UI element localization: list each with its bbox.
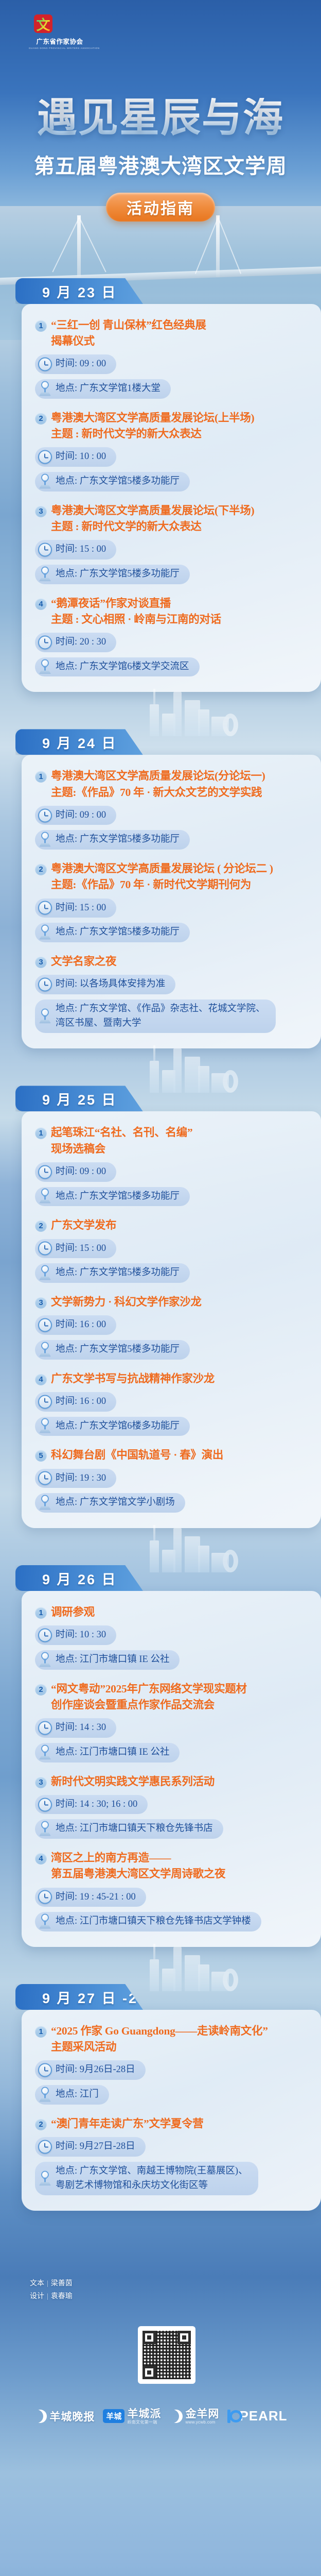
event-place-text: 地点: 广东文学馆5楼多功能厅: [56, 567, 180, 582]
event-item[interactable]: 3文学新势力 · 科幻文学作家沙龙时间: 16 : 00地点: 广东文学馆5楼多…: [35, 1294, 310, 1360]
event-title: 粤港澳大湾区文学高质量发展论坛(上半场): [51, 410, 254, 426]
event-time-pill: 时间: 20 : 30: [35, 633, 116, 652]
event-time-text: 时间: 09 : 00: [56, 357, 106, 371]
event-title: “2025 作家 Go Guangdong——走读岭南文化” 主题采风活动: [51, 2023, 268, 2055]
event-place-pill: 地点: 广东文学馆6楼多功能厅: [35, 1417, 190, 1436]
event-time-pill: 时间: 16 : 00: [35, 1315, 116, 1335]
qr-code[interactable]: [138, 2326, 195, 2384]
event-time-text: 时间: 16 : 00: [56, 1318, 106, 1332]
event-place-pill: 地点: 广东文学馆、《作品》杂志社、花城文学院、 湾区书屋、暨南大学: [35, 999, 276, 1033]
brand-jinyang: 金羊网 www.ycwb.com: [169, 2408, 219, 2425]
date-tab: 9 月 23 日: [15, 278, 143, 304]
bridge-pylon: [216, 215, 220, 277]
event-time-pill: 时间: 以各场具体安排为准: [35, 975, 175, 994]
event-title: 粤港澳大湾区文学高质量发展论坛(分论坛一): [51, 768, 265, 784]
event-item[interactable]: 1粤港澳大湾区文学高质量发展论坛(分论坛一)主题:《作品》70 年 · 新大众文…: [35, 768, 310, 850]
map-pin-icon: [38, 832, 52, 848]
clock-icon: [38, 1721, 52, 1735]
clock-icon: [38, 2063, 52, 2077]
event-item[interactable]: 3新时代文明实践文学惠民系列活动时间: 14 : 30; 16 : 00地点: …: [35, 1774, 310, 1839]
qr-finder-icon: [177, 2331, 191, 2344]
event-header: 4“鹅潭夜话”作家对谈直播: [35, 596, 310, 612]
pearl-p-icon: [227, 2410, 238, 2423]
event-number-badge: 4: [35, 598, 47, 610]
event-time-text: 时间: 15 : 00: [56, 1242, 106, 1256]
date-label: 9 月 23 日: [42, 281, 117, 301]
event-item[interactable]: 4湾区之上的南方再造—— 第五届粤港澳大湾区文学周诗歌之夜时间: 19 : 45…: [35, 1850, 310, 1931]
event-title: 粤港澳大湾区文学高质量发展论坛 ( 分论坛二 ): [51, 861, 273, 877]
page-subtitle: 第五届粤港澳大湾区文学周: [0, 149, 321, 179]
org-logo-mark: 文: [34, 14, 52, 33]
event-item[interactable]: 4“鹅潭夜话”作家对谈直播主题 : 文心相照 · 岭南与江南的对话时间: 20 …: [35, 596, 310, 677]
event-place-text: 地点: 广东文学馆、南越王博物院(王墓展区)、 粤剧艺术博物馆和永庆坊文化街区等: [56, 2164, 248, 2193]
moon-icon: [33, 2410, 47, 2423]
brand-name: 金羊网: [185, 2408, 219, 2420]
event-time-pill: 时间: 10 : 30: [35, 1625, 116, 1645]
map-pin-icon: [38, 566, 52, 582]
event-number-badge: 1: [35, 771, 47, 783]
event-time-text: 时间: 9月27日-28日: [56, 2140, 135, 2154]
brand-url: www.ycwb.com: [185, 2420, 219, 2425]
event-time-text: 时间: 15 : 00: [56, 543, 106, 557]
event-header: 3文学新势力 · 科幻文学作家沙龙: [35, 1294, 310, 1310]
event-theme: 主题:《作品》70 年 · 新时代文学期刊何为: [51, 877, 310, 893]
credit-design-label: 设计: [30, 2293, 44, 2300]
event-time-text: 时间: 以各场具体安排为准: [56, 977, 165, 992]
event-title: 湾区之上的南方再造—— 第五届粤港澳大湾区文学周诗歌之夜: [51, 1850, 225, 1882]
event-header: 4广东文学书写与抗战精神作家沙龙: [35, 1371, 310, 1387]
event-title: “鹅潭夜话”作家对谈直播: [51, 596, 171, 612]
org-name-en: GUANG DONG PROVINCIAL WRITERS ASSOCIATIO…: [29, 47, 91, 49]
event-title: “澳门青年走读广东”文学夏令营: [51, 2116, 204, 2132]
event-header: 3文学名家之夜: [35, 954, 310, 970]
date-tab: 9 月 27 日 -28 日: [15, 1984, 143, 2010]
brand-name: PEARL: [239, 2408, 287, 2424]
credit-design-line: 设计|袁春瑜: [30, 2291, 73, 2303]
day-card: 1调研参观时间: 10 : 30地点: 江门市塘口镇 IE 公社2“网文粤动”2…: [22, 1591, 321, 1947]
event-place-text: 地点: 广东文学馆5楼多功能厅: [56, 925, 180, 940]
event-title: 文学名家之夜: [51, 954, 116, 970]
event-time-text: 时间: 10 : 00: [56, 450, 106, 464]
poster-root: 文 广东省作家协会 GUANG DONG PROVINCIAL WRITERS …: [0, 0, 321, 2576]
event-header: 3粤港澳大湾区文学高质量发展论坛(下半场): [35, 503, 310, 519]
map-pin-icon: [38, 659, 52, 675]
clock-icon: [38, 1242, 52, 1256]
event-time-pill: 时间: 15 : 00: [35, 899, 116, 918]
event-time-pill: 时间: 15 : 00: [35, 1239, 116, 1259]
clock-icon: [38, 808, 52, 822]
day-card: 1粤港澳大湾区文学高质量发展论坛(分论坛一)主题:《作品》70 年 · 新大众文…: [22, 755, 321, 1048]
event-time-text: 时间: 14 : 30: [56, 1721, 106, 1735]
hero-section: 遇见星辰与海 第五届粤港澳大湾区文学周 活动指南: [0, 98, 321, 222]
qr-finder-icon: [142, 2366, 156, 2379]
org-logo: 文 广东省作家协会 GUANG DONG PROVINCIAL WRITERS …: [29, 14, 91, 49]
event-time-text: 时间: 09 : 00: [56, 808, 106, 823]
map-pin-icon: [38, 1418, 52, 1434]
event-title: 起笔珠江“名社、名刊、名编” 现场选稿会: [51, 1125, 192, 1157]
brand-ycpai: 羊城 羊城派 岭南文化第一端: [103, 2408, 161, 2425]
brand-name: 羊城派: [127, 2408, 161, 2420]
event-place-pill: 地点: 广东文学馆6楼文学交流区: [35, 657, 200, 677]
event-time-pill: 时间: 16 : 00: [35, 1392, 116, 1412]
event-theme: 主题 : 新时代文学的新大众表达: [51, 519, 310, 535]
map-pin-icon: [38, 381, 52, 397]
event-place-pill: 地点: 广东文学馆文学小剧场: [35, 1493, 185, 1513]
activity-guide-button[interactable]: 活动指南: [106, 193, 215, 222]
event-place-text: 地点: 广东文学馆5楼多功能厅: [56, 474, 180, 489]
date-tab: 9 月 25 日: [15, 1086, 143, 1111]
event-place-text: 地点: 广东文学馆6楼文学交流区: [56, 660, 189, 674]
map-pin-icon: [38, 1265, 52, 1281]
map-pin-icon: [38, 2171, 52, 2187]
event-number-badge: 3: [35, 956, 47, 968]
event-header: 1“2025 作家 Go Guangdong——走读岭南文化” 主题采风活动: [35, 2023, 310, 2055]
event-number-badge: 3: [35, 1297, 47, 1309]
brand-badge: 羊城: [103, 2409, 124, 2423]
day-section: 9 月 25 日1起笔珠江“名社、名刊、名编” 现场选稿会时间: 09 : 00…: [0, 1086, 321, 1528]
clock-icon: [38, 901, 52, 915]
clock-icon: [38, 1890, 52, 1904]
event-time-text: 时间: 14 : 30; 16 : 00: [56, 1798, 137, 1812]
map-pin-icon: [38, 473, 52, 489]
event-header: 1调研参观: [35, 1604, 310, 1620]
event-number-badge: 2: [35, 1684, 47, 1696]
clock-icon: [38, 1165, 52, 1179]
event-number-badge: 1: [35, 320, 47, 332]
event-item[interactable]: 2“网文粤动”2025年广东网络文学现实题材 创作座谈会暨重点作家作品交流会时间…: [35, 1681, 310, 1762]
event-place-text: 地点: 江门市塘口镇 IE 公社: [56, 1745, 169, 1760]
event-place-text: 地点: 广东文学馆5楼多功能厅: [56, 1266, 180, 1280]
event-place-text: 地点: 广东文学馆5楼多功能厅: [56, 1343, 180, 1357]
event-place-pill: 地点: 广东文学馆5楼多功能厅: [35, 565, 190, 584]
event-item[interactable]: 2“澳门青年走读广东”文学夏令营时间: 9月27日-28日地点: 广东文学馆、南…: [35, 2116, 310, 2195]
event-place-pill: 地点: 广东文学馆5楼多功能厅: [35, 1340, 190, 1360]
brand-pearl: PEARL: [227, 2408, 287, 2424]
map-pin-icon: [38, 925, 52, 941]
org-name-cn: 广东省作家协会: [29, 36, 91, 46]
event-title: “网文粤动”2025年广东网络文学现实题材 创作座谈会暨重点作家作品交流会: [51, 1681, 247, 1713]
event-place-pill: 地点: 江门市塘口镇天下粮仓先锋书店: [35, 1819, 223, 1839]
event-number-badge: 4: [35, 1853, 47, 1865]
event-number-badge: 5: [35, 1450, 47, 1462]
event-item[interactable]: 2粤港澳大湾区文学高质量发展论坛 ( 分论坛二 )主题:《作品》70 年 · 新…: [35, 861, 310, 942]
day-section: 9 月 24 日1粤港澳大湾区文学高质量发展论坛(分论坛一)主题:《作品》70 …: [0, 729, 321, 1048]
event-place-text: 地点: 广东文学馆6楼多功能厅: [56, 1419, 180, 1434]
event-place-pill: 地点: 江门: [35, 2085, 109, 2105]
event-item[interactable]: 1起笔珠江“名社、名刊、名编” 现场选稿会时间: 09 : 00地点: 广东文学…: [35, 1125, 310, 1206]
event-place-pill: 地点: 江门市塘口镇 IE 公社: [35, 1743, 180, 1762]
event-time-pill: 时间: 14 : 30; 16 : 00: [35, 1795, 148, 1815]
event-item[interactable]: 2广东文学发布时间: 15 : 00地点: 广东文学馆5楼多功能厅: [35, 1217, 310, 1283]
event-time-pill: 时间: 19 : 30: [35, 1469, 116, 1488]
event-place-pill: 地点: 江门市塘口镇 IE 公社: [35, 1650, 180, 1670]
date-label: 9 月 25 日: [42, 1089, 117, 1109]
moon-icon: [169, 2410, 183, 2423]
credit-text-label: 文本: [30, 2280, 44, 2287]
event-place-text: 地点: 江门市塘口镇 IE 公社: [56, 1653, 169, 1667]
event-title: 调研参观: [51, 1604, 95, 1620]
event-item[interactable]: 3文学名家之夜时间: 以各场具体安排为准地点: 广东文学馆、《作品》杂志社、花城…: [35, 954, 310, 1033]
event-header: 2粤港澳大湾区文学高质量发展论坛(上半场): [35, 410, 310, 426]
map-pin-icon: [38, 1008, 52, 1024]
event-title: 新时代文明实践文学惠民系列活动: [51, 1774, 215, 1790]
map-pin-icon: [38, 1189, 52, 1205]
event-time-pill: 时间: 15 : 00: [35, 540, 116, 560]
event-header: 2“澳门青年走读广东”文学夏令营: [35, 2116, 310, 2132]
event-place-pill: 地点: 广东文学馆5楼多功能厅: [35, 1187, 190, 1207]
date-tab: 9 月 26 日: [15, 1565, 143, 1591]
day-card: 1“2025 作家 Go Guangdong——走读岭南文化” 主题采风活动时间…: [22, 2010, 321, 2211]
event-item[interactable]: 4广东文学书写与抗战精神作家沙龙时间: 16 : 00地点: 广东文学馆6楼多功…: [35, 1371, 310, 1436]
page-title: 遇见星辰与海: [0, 98, 321, 138]
map-pin-icon: [38, 2087, 52, 2103]
event-time-text: 时间: 9月26日-28日: [56, 2063, 135, 2077]
event-place-text: 地点: 广东文学馆5楼多功能厅: [56, 833, 180, 847]
event-time-pill: 时间: 10 : 00: [35, 447, 116, 467]
event-time-text: 时间: 09 : 00: [56, 1165, 106, 1179]
date-label: 9 月 27 日 -28 日: [42, 1987, 168, 2007]
date-label: 9 月 26 日: [42, 1568, 117, 1588]
map-pin-icon: [38, 1652, 52, 1668]
event-number-badge: 2: [35, 2119, 47, 2130]
event-time-pill: 时间: 09 : 00: [35, 1162, 116, 1182]
event-place-text: 地点: 江门市塘口镇天下粮仓先锋书店: [56, 1822, 213, 1836]
event-time-text: 时间: 20 : 30: [56, 635, 106, 650]
event-place-pill: 地点: 广东文学馆1楼大堂: [35, 379, 171, 399]
map-pin-icon: [38, 1342, 52, 1358]
event-item[interactable]: 1调研参观时间: 10 : 30地点: 江门市塘口镇 IE 公社: [35, 1604, 310, 1670]
map-pin-icon: [38, 1821, 52, 1837]
day-section: 9 月 27 日 -28 日1“2025 作家 Go Guangdong——走读…: [0, 1984, 321, 2211]
event-header: 1粤港澳大湾区文学高质量发展论坛(分论坛一): [35, 768, 310, 784]
clock-icon: [38, 978, 52, 992]
event-place-text: 地点: 江门市塘口镇天下粮仓先锋书店文学钟楼: [56, 1914, 251, 1929]
event-place-pill: 地点: 广东文学馆5楼多功能厅: [35, 830, 190, 850]
org-logo-glyph: 文: [34, 14, 52, 33]
event-time-pill: 时间: 9月26日-28日: [35, 2060, 146, 2080]
clock-icon: [38, 543, 52, 556]
event-time-text: 时间: 19 : 45-21 : 00: [56, 1890, 136, 1905]
event-title: “三红一创 青山保林”红色经典展 揭幕仪式: [51, 317, 206, 349]
event-header: 2“网文粤动”2025年广东网络文学现实题材 创作座谈会暨重点作家作品交流会: [35, 1681, 310, 1713]
event-place-pill: 地点: 广东文学馆5楼多功能厅: [35, 1263, 190, 1283]
map-pin-icon: [38, 1914, 52, 1930]
event-title: 科幻舞台剧《中国轨道号 · 春》演出: [51, 1447, 223, 1463]
event-title: 文学新势力 · 科幻文学作家沙龙: [51, 1294, 202, 1310]
clock-icon: [38, 1395, 52, 1409]
event-place-pill: 地点: 广东文学馆5楼多功能厅: [35, 923, 190, 942]
event-header: 5科幻舞台剧《中国轨道号 · 春》演出: [35, 1447, 310, 1463]
event-item[interactable]: 3粤港澳大湾区文学高质量发展论坛(下半场)主题 : 新时代文学的新大众表达时间:…: [35, 503, 310, 584]
clock-icon: [38, 1629, 52, 1642]
event-place-pill: 地点: 江门市塘口镇天下粮仓先锋书店文学钟楼: [35, 1912, 261, 1931]
event-place-text: 地点: 江门: [56, 2088, 99, 2102]
event-item[interactable]: 1“2025 作家 Go Guangdong——走读岭南文化” 主题采风活动时间…: [35, 2023, 310, 2105]
clock-icon: [38, 2140, 52, 2154]
event-time-text: 时间: 15 : 00: [56, 901, 106, 916]
event-place-text: 地点: 广东文学馆1楼大堂: [56, 382, 160, 396]
event-number-badge: 4: [35, 1374, 47, 1385]
event-number-badge: 2: [35, 1220, 47, 1232]
event-time-text: 时间: 16 : 00: [56, 1395, 106, 1409]
event-header: 1起笔珠江“名社、名刊、名编” 现场选稿会: [35, 1125, 310, 1157]
day-card: 1“三红一创 青山保林”红色经典展 揭幕仪式时间: 09 : 00地点: 广东文…: [22, 304, 321, 692]
day-section: 9 月 26 日1调研参观时间: 10 : 30地点: 江门市塘口镇 IE 公社…: [0, 1565, 321, 1947]
day-card: 1起笔珠江“名社、名刊、名编” 现场选稿会时间: 09 : 00地点: 广东文学…: [22, 1111, 321, 1528]
clock-icon: [38, 1471, 52, 1485]
brand-name: 羊城晚报: [49, 2409, 95, 2424]
map-pin-icon: [38, 1744, 52, 1760]
clock-icon: [38, 450, 52, 464]
event-place-text: 地点: 广东文学馆、《作品》杂志社、花城文学院、 湾区书屋、暨南大学: [56, 1002, 265, 1031]
event-title: 广东文学书写与抗战精神作家沙龙: [51, 1371, 215, 1387]
event-item[interactable]: 2粤港澳大湾区文学高质量发展论坛(上半场)主题 : 新时代文学的新大众表达时间:…: [35, 410, 310, 492]
event-number-badge: 1: [35, 2026, 47, 2038]
map-pin-icon: [38, 1495, 52, 1511]
credit-design-name: 袁春瑜: [51, 2293, 73, 2300]
event-place-text: 地点: 广东文学馆5楼多功能厅: [56, 1190, 180, 1204]
event-place-pill: 地点: 广东文学馆5楼多功能厅: [35, 472, 190, 492]
event-theme: 主题:《作品》70 年 · 新大众文艺的文学实践: [51, 785, 310, 801]
clock-icon: [38, 635, 52, 649]
event-number-badge: 3: [35, 505, 47, 517]
brand-tagline: 岭南文化第一端: [127, 2420, 161, 2425]
event-time-pill: 时间: 14 : 30: [35, 1718, 116, 1738]
credits-block: 文本|梁善茵 设计|袁春瑜: [30, 2278, 73, 2303]
credit-text-name: 梁善茵: [51, 2280, 73, 2287]
event-number-badge: 2: [35, 863, 47, 875]
event-time-text: 时间: 10 : 30: [56, 1628, 106, 1642]
brand-ycwb: 羊城晚报: [33, 2409, 95, 2424]
event-time-pill: 时间: 09 : 00: [35, 806, 116, 825]
event-title: 广东文学发布: [51, 1217, 116, 1233]
clock-icon: [38, 1798, 52, 1811]
event-time-pill: 时间: 09 : 00: [35, 354, 116, 374]
event-time-pill: 时间: 19 : 45-21 : 00: [35, 1888, 146, 1907]
date-label: 9 月 24 日: [42, 732, 117, 752]
date-tab: 9 月 24 日: [15, 729, 143, 755]
credit-text-line: 文本|梁善茵: [30, 2278, 73, 2291]
clock-icon: [38, 358, 52, 371]
event-number-badge: 1: [35, 1607, 47, 1619]
event-number-badge: 2: [35, 413, 47, 425]
event-item[interactable]: 1“三红一创 青山保林”红色经典展 揭幕仪式时间: 09 : 00地点: 广东文…: [35, 317, 310, 399]
qr-code-pattern: [142, 2331, 191, 2379]
event-place-text: 地点: 广东文学馆文学小剧场: [56, 1496, 175, 1510]
event-number-badge: 1: [35, 1127, 47, 1139]
event-number-badge: 3: [35, 1776, 47, 1788]
qr-finder-icon: [142, 2331, 156, 2344]
bridge-pylon: [77, 215, 81, 277]
day-section: 9 月 23 日1“三红一创 青山保林”红色经典展 揭幕仪式时间: 09 : 0…: [0, 278, 321, 692]
event-item[interactable]: 5科幻舞台剧《中国轨道号 · 春》演出时间: 19 : 30地点: 广东文学馆文…: [35, 1447, 310, 1513]
event-header: 4湾区之上的南方再造—— 第五届粤港澳大湾区文学周诗歌之夜: [35, 1850, 310, 1882]
clock-icon: [38, 1318, 52, 1332]
event-header: 2广东文学发布: [35, 1217, 310, 1233]
event-theme: 主题 : 新时代文学的新大众表达: [51, 426, 310, 442]
event-header: 2粤港澳大湾区文学高质量发展论坛 ( 分论坛二 ): [35, 861, 310, 877]
event-header: 1“三红一创 青山保林”红色经典展 揭幕仪式: [35, 317, 310, 349]
event-time-text: 时间: 19 : 30: [56, 1471, 106, 1486]
brand-strip: 羊城晚报 羊城 羊城派 岭南文化第一端 金羊网 www.ycwb.com PEA…: [0, 2408, 321, 2425]
event-title: 粤港澳大湾区文学高质量发展论坛(下半场): [51, 503, 254, 519]
event-header: 3新时代文明实践文学惠民系列活动: [35, 1774, 310, 1790]
event-place-pill: 地点: 广东文学馆、南越王博物院(王墓展区)、 粤剧艺术博物馆和永庆坊文化街区等: [35, 2162, 258, 2196]
event-time-pill: 时间: 9月27日-28日: [35, 2137, 146, 2157]
event-theme: 主题 : 文心相照 · 岭南与江南的对话: [51, 612, 310, 628]
